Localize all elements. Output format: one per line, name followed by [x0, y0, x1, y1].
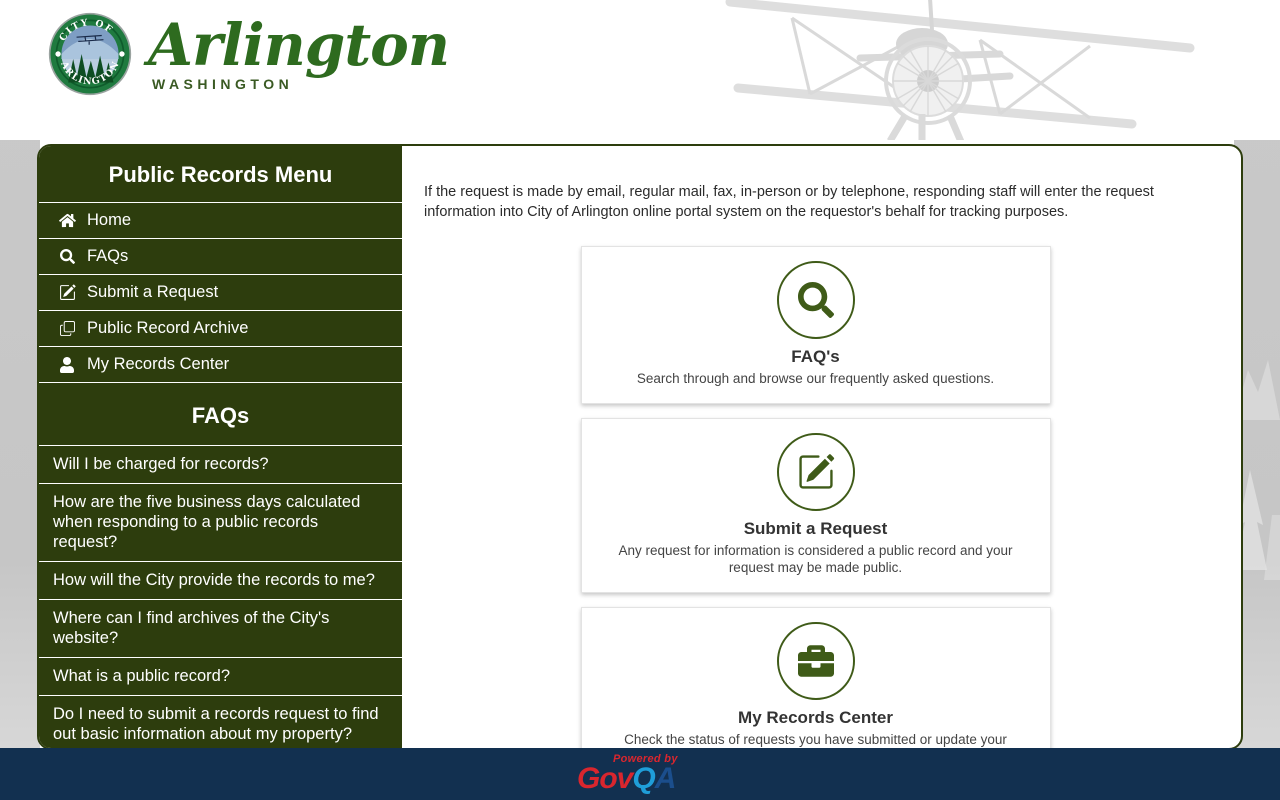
briefcase-icon: [777, 622, 855, 700]
search-icon: [777, 261, 855, 339]
card-title: My Records Center: [596, 708, 1036, 728]
card-faqs[interactable]: FAQ's Search through and browse our freq…: [581, 246, 1051, 404]
sidebar-item-label: Submit a Request: [87, 283, 218, 302]
card-submit-a-request[interactable]: Submit a Request Any request for informa…: [581, 418, 1051, 593]
card-description: Check the status of requests you have su…: [596, 731, 1036, 748]
govqa-gov: Gov: [577, 762, 632, 795]
sidebar-item-my-records-center[interactable]: My Records Center: [39, 346, 402, 382]
page-root: CITY OF ARLINGTON Arlington WASHINGTON P…: [0, 0, 1280, 800]
site-header: CITY OF ARLINGTON Arlington WASHINGTON: [0, 0, 1280, 140]
govqa-wordmark: GovQA: [577, 764, 675, 794]
list-item[interactable]: Do I need to submit a records request to…: [39, 695, 402, 748]
govqa-q: Q: [632, 762, 654, 795]
card-my-records-center[interactable]: My Records Center Check the status of re…: [581, 607, 1051, 748]
search-icon: [57, 249, 77, 264]
pencil-square-icon: [57, 284, 77, 301]
sidebar-item-faqs[interactable]: FAQs: [39, 238, 402, 274]
list-item[interactable]: Where can I find archives of the City's …: [39, 599, 402, 657]
site-footer: Powered by GovQA: [0, 748, 1280, 800]
sidebar-item-public-record-archive[interactable]: Public Record Archive: [39, 310, 402, 346]
sidebar-item-label: My Records Center: [87, 355, 229, 374]
wordmark-city: Arlington: [148, 16, 449, 74]
sidebar-title: Public Records Menu: [39, 146, 402, 202]
city-seal-icon: CITY OF ARLINGTON: [48, 12, 132, 96]
wordmark: Arlington WASHINGTON: [148, 16, 449, 92]
govqa-a: A: [655, 762, 676, 795]
list-item[interactable]: What is a public record?: [39, 657, 402, 695]
card-description: Any request for information is considere…: [596, 542, 1036, 576]
list-item[interactable]: Will I be charged for records?: [39, 445, 402, 483]
copy-icon: [57, 320, 77, 337]
sidebar-item-submit-a-request[interactable]: Submit a Request: [39, 274, 402, 310]
home-icon: [57, 213, 77, 228]
intro-paragraph: If the request is made by email, regular…: [424, 182, 1207, 222]
main-panel: Public Records Menu Home FAQs Submit a R…: [37, 144, 1243, 750]
card-title: FAQ's: [596, 347, 1036, 367]
pencil-square-icon: [777, 433, 855, 511]
sidebar-item-label: Public Record Archive: [87, 319, 248, 338]
biplane-watermark-icon: [700, 0, 1220, 140]
sidebar-item-label: FAQs: [87, 247, 128, 266]
govqa-logo[interactable]: Powered by GovQA: [575, 752, 705, 796]
person-icon: [57, 357, 77, 373]
content-area: If the request is made by email, regular…: [402, 146, 1241, 748]
sidebar-faq-title: FAQs: [39, 382, 402, 445]
sidebar-item-home[interactable]: Home: [39, 202, 402, 238]
quick-link-cards: FAQ's Search through and browse our freq…: [424, 246, 1207, 748]
sidebar-item-label: Home: [87, 211, 131, 230]
list-item[interactable]: How will the City provide the records to…: [39, 561, 402, 599]
card-title: Submit a Request: [596, 519, 1036, 539]
sidebar: Public Records Menu Home FAQs Submit a R…: [39, 146, 402, 748]
site-brand[interactable]: CITY OF ARLINGTON Arlington WASHINGTON: [48, 12, 449, 96]
list-item[interactable]: How are the five business days calculate…: [39, 483, 402, 561]
card-description: Search through and browse our frequently…: [596, 370, 1036, 387]
